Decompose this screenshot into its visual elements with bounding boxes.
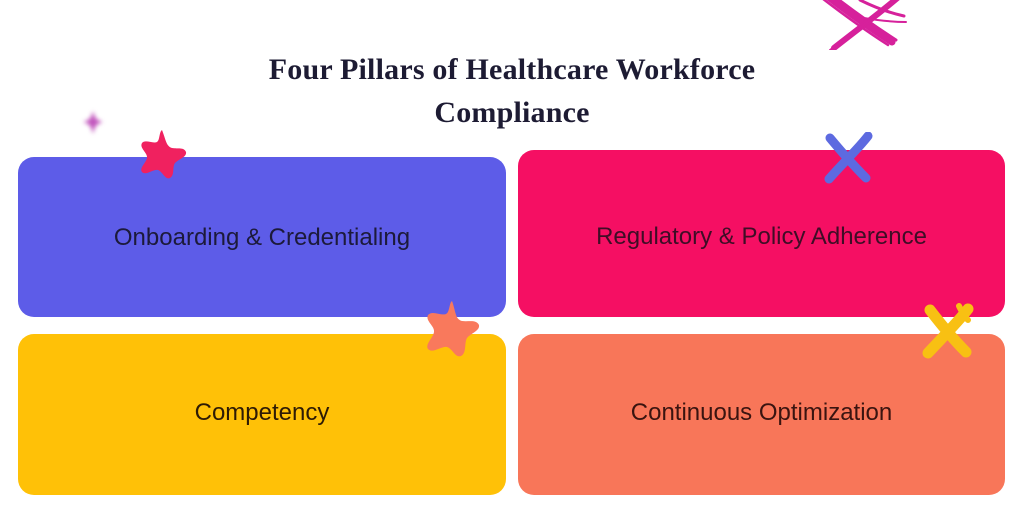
pillar-card-regulatory[interactable]: Regulatory & Policy Adherence xyxy=(518,150,1005,317)
pillar-card-optimization[interactable]: Continuous Optimization xyxy=(518,334,1005,495)
infographic-canvas: Four Pillars of Healthcare Workforce Com… xyxy=(0,0,1024,512)
pillar-card-optimization-label: Continuous Optimization xyxy=(631,334,892,495)
scribble-x-icon xyxy=(806,0,916,50)
pillar-card-regulatory-label: Regulatory & Policy Adherence xyxy=(596,150,927,317)
pillar-card-competency-label: Competency xyxy=(195,334,330,495)
pillar-card-onboarding[interactable]: Onboarding & Credentialing xyxy=(18,157,506,317)
pillar-card-onboarding-label: Onboarding & Credentialing xyxy=(114,157,410,317)
page-title: Four Pillars of Healthcare Workforce Com… xyxy=(0,48,1024,134)
pillar-card-competency[interactable]: Competency xyxy=(18,334,506,495)
